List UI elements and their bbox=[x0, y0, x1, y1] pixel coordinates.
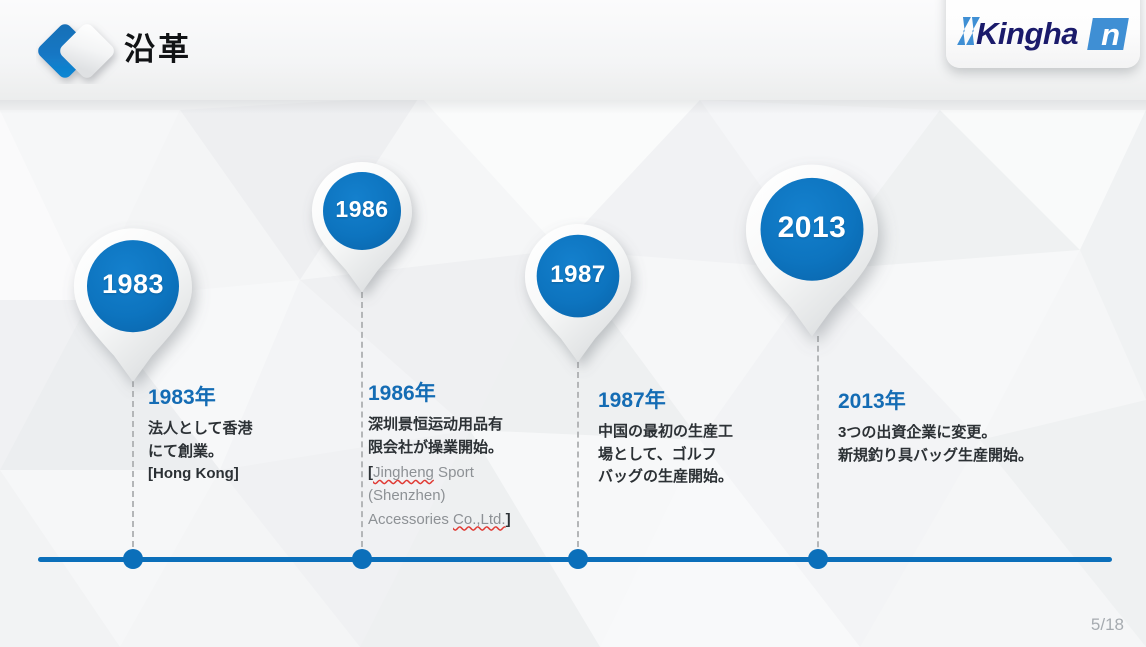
timeline-dot-1986[interactable] bbox=[352, 549, 372, 569]
chevron-diamond-logo-icon bbox=[36, 18, 128, 84]
entry-alt-text: [Jingheng Sport(Shenzhen)Accessories Co.… bbox=[368, 461, 568, 531]
company-logo-badge: Kingha n bbox=[946, 0, 1140, 68]
entry-year-heading: 1986年 bbox=[368, 382, 568, 405]
timeline-entry-2013: 2013年3つの出資企業に変更。新規釣り具バッグ生産開始。 bbox=[838, 390, 1098, 467]
timeline-dot-1983[interactable] bbox=[123, 549, 143, 569]
logo-letter-k: K bbox=[960, 18, 998, 49]
map-pin-shape bbox=[312, 160, 412, 294]
map-pin-2013[interactable]: 2013 bbox=[746, 162, 878, 339]
page-number: 5/18 bbox=[1091, 616, 1124, 633]
timeline-connector-2013 bbox=[817, 336, 819, 557]
slide-canvas: 沿革 Kingha n 1983198619872013 1983年法人として香… bbox=[0, 0, 1146, 647]
logo-letters-ingha: ingha bbox=[998, 18, 1078, 49]
entry-body-text: 深圳景恒运动用品有限会社が操業開始。 bbox=[368, 414, 568, 459]
map-pin-1987[interactable]: 1987 bbox=[525, 222, 631, 364]
map-pin-shape bbox=[74, 226, 192, 384]
map-pin-1983[interactable]: 1983 bbox=[74, 226, 192, 384]
timeline-entry-1986: 1986年深圳景恒运动用品有限会社が操業開始。[Jingheng Sport(S… bbox=[368, 382, 568, 531]
logo-letter-n: n bbox=[1095, 19, 1126, 50]
page-title: 沿革 bbox=[124, 34, 192, 65]
timeline-entry-1983: 1983年法人として香港にて創業。[Hong Kong] bbox=[148, 386, 328, 486]
timeline-entry-1987: 1987年中国の最初の生産工場として、ゴルフバッグの生産開始。 bbox=[598, 389, 768, 489]
timeline-connector-1987 bbox=[577, 362, 579, 557]
entry-body-text: 法人として香港にて創業。[Hong Kong] bbox=[148, 418, 328, 486]
map-pin-1986[interactable]: 1986 bbox=[312, 160, 412, 294]
entry-year-heading: 1987年 bbox=[598, 389, 768, 412]
timeline-dot-1987[interactable] bbox=[568, 549, 588, 569]
entry-bracket: ] bbox=[506, 511, 511, 528]
entry-body-text: 中国の最初の生産工場として、ゴルフバッグの生産開始。 bbox=[598, 421, 768, 489]
entry-body-text: 3つの出資企業に変更。新規釣り具バッグ生産開始。 bbox=[838, 422, 1098, 467]
map-pin-shape bbox=[746, 162, 878, 339]
timeline-connector-1983 bbox=[132, 381, 134, 557]
company-logo-wordmark: Kingha bbox=[960, 18, 1078, 52]
map-pin-shape bbox=[525, 222, 631, 364]
timeline-dot-2013[interactable] bbox=[808, 549, 828, 569]
spellcheck-underline: Jingheng bbox=[373, 464, 434, 481]
entry-year-heading: 1983年 bbox=[148, 386, 328, 409]
entry-year-heading: 2013年 bbox=[838, 390, 1098, 413]
spellcheck-underline: Co.,Ltd. bbox=[453, 511, 506, 528]
timeline-connector-1986 bbox=[361, 292, 363, 557]
